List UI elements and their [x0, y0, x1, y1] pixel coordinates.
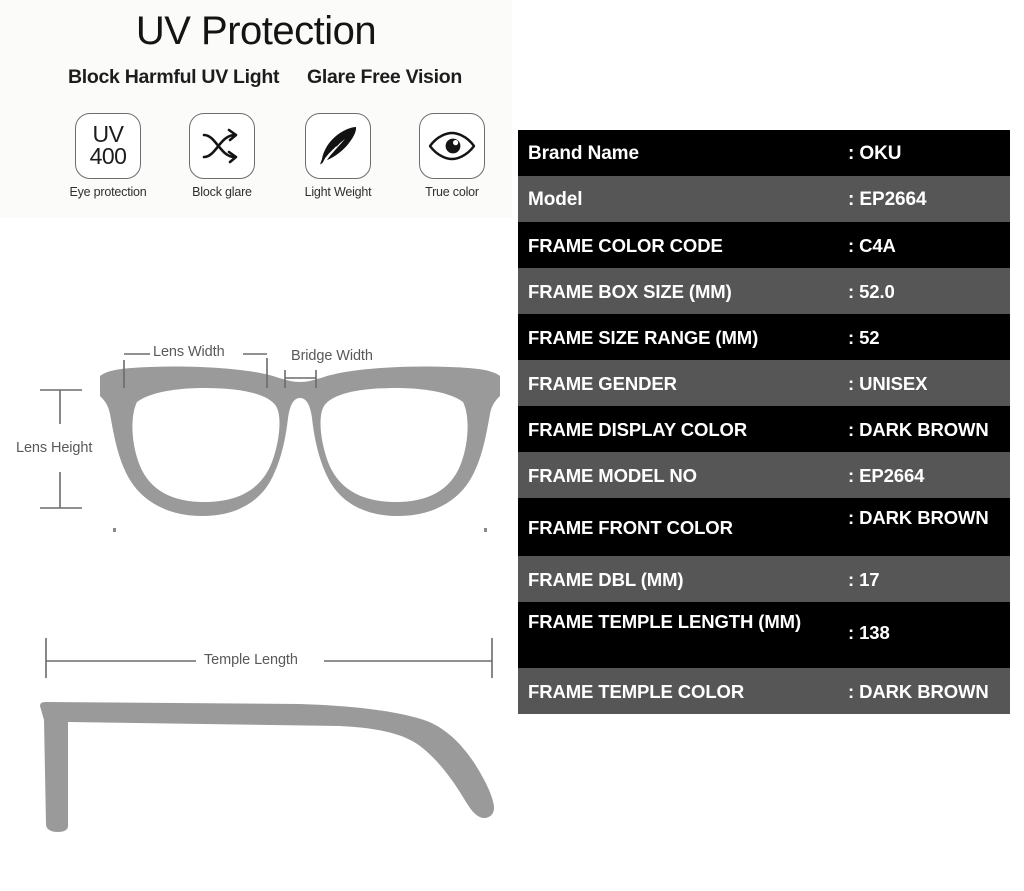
- spec-separator: :: [848, 189, 854, 210]
- bridge-width-label: Bridge Width: [291, 348, 373, 364]
- lens-height-label: Lens Height: [16, 440, 92, 456]
- spec-value-text: EP2664: [859, 189, 926, 210]
- eye-icon: [419, 113, 485, 179]
- spec-label: FRAME DISPLAY COLOR: [518, 418, 848, 441]
- spec-value: : C4A: [848, 234, 1010, 257]
- uv-protection-banner: UV Protection Block Harmful UV Light Gla…: [0, 0, 512, 218]
- spec-value-text: OKU: [859, 143, 901, 164]
- lens-width-label: Lens Width: [153, 344, 225, 360]
- spec-value-text: 138: [859, 622, 890, 643]
- feather-icon: [305, 113, 371, 179]
- table-row: FRAME DBL (MM) : 17: [518, 556, 1010, 602]
- table-row: FRAME TEMPLE LENGTH (MM) : 138: [518, 602, 1010, 668]
- shuffle-arrows-glyph: [200, 127, 244, 165]
- spec-separator: :: [848, 143, 854, 164]
- spec-label: FRAME FRONT COLOR: [518, 516, 848, 539]
- table-row: FRAME FRONT COLOR : DARK BROWN: [518, 498, 1010, 556]
- spec-label: FRAME TEMPLE LENGTH (MM): [518, 602, 848, 633]
- spec-value-text: 17: [859, 569, 879, 590]
- spec-label: FRAME GENDER: [518, 372, 848, 395]
- temple-length-label: Temple Length: [204, 652, 298, 668]
- feature-block-glare: Block glare: [170, 113, 274, 199]
- feature-caption: Eye protection: [56, 185, 160, 199]
- spec-label: FRAME DBL (MM): [518, 568, 848, 591]
- spec-separator: :: [848, 681, 854, 702]
- spec-label: FRAME TEMPLE COLOR: [518, 680, 848, 703]
- uv400-icon-bottom-text: 400: [90, 146, 127, 168]
- spec-value: : 52: [848, 326, 1010, 349]
- spec-value-text: C4A: [859, 235, 896, 256]
- spec-value-text: 52.0: [859, 281, 895, 302]
- spec-label: Model: [518, 188, 848, 211]
- shuffle-arrows-icon: [189, 113, 255, 179]
- temple-length-diagram: Temple Length: [0, 620, 512, 886]
- spec-value: : UNISEX: [848, 372, 1010, 395]
- eyeglass-frame-shape: [100, 366, 500, 516]
- spec-value: : 52.0: [848, 280, 1010, 303]
- spec-separator: :: [848, 281, 854, 302]
- spec-separator: :: [848, 465, 854, 486]
- feature-caption: Light Weight: [286, 185, 390, 199]
- feather-glyph: [315, 123, 361, 169]
- feature-eye-protection: UV 400 Eye protection: [56, 113, 160, 199]
- spec-label: FRAME SIZE RANGE (MM): [518, 326, 848, 349]
- spec-value-text: DARK BROWN: [859, 419, 989, 440]
- feature-caption: True color: [400, 185, 504, 199]
- table-row: FRAME MODEL NO : EP2664: [518, 452, 1010, 498]
- spec-value-text: 52: [859, 327, 879, 348]
- uv400-icon: UV 400: [75, 113, 141, 179]
- feature-icon-strip: UV 400 Eye protection: [56, 113, 504, 208]
- spec-label: FRAME MODEL NO: [518, 464, 848, 487]
- uv-subtitle-glare-free: Glare Free Vision: [307, 66, 462, 89]
- spec-separator: :: [848, 419, 854, 440]
- table-row: FRAME TEMPLE COLOR : DARK BROWN: [518, 668, 1010, 714]
- table-row: FRAME BOX SIZE (MM) : 52.0: [518, 268, 1010, 314]
- spec-label: Brand Name: [518, 142, 848, 165]
- frame-base-ticks: [113, 528, 487, 532]
- spec-value-text: EP2664: [859, 465, 924, 486]
- temple-arm-shape: [40, 702, 494, 832]
- frame-front-diagram: Lens Width Bridge Width Lens Height: [0, 320, 512, 580]
- table-row: Brand Name : OKU: [518, 130, 1010, 176]
- spec-separator: :: [848, 373, 854, 394]
- uv-subtitle-block-uv: Block Harmful UV Light: [68, 66, 279, 89]
- spec-value: : EP2664: [848, 188, 1010, 211]
- spec-value: : DARK BROWN: [848, 506, 1010, 529]
- spec-separator: :: [848, 235, 854, 256]
- spec-value: : OKU: [848, 142, 1010, 165]
- spec-value-text: DARK BROWN: [859, 681, 989, 702]
- left-illustration-panel: UV Protection Block Harmful UV Light Gla…: [0, 0, 512, 886]
- feature-true-color: True color: [400, 113, 504, 199]
- spec-separator: :: [848, 507, 854, 528]
- spec-value: : EP2664: [848, 464, 1010, 487]
- spec-value: : DARK BROWN: [848, 418, 1010, 441]
- table-row: Model : EP2664: [518, 176, 1010, 222]
- spec-separator: :: [848, 327, 854, 348]
- spec-value: : 17: [848, 568, 1010, 591]
- spec-value: : DARK BROWN: [848, 680, 1010, 703]
- spec-value-text: DARK BROWN: [859, 507, 989, 528]
- spec-value-text: UNISEX: [859, 373, 927, 394]
- eye-glyph: [428, 131, 476, 161]
- table-row: FRAME SIZE RANGE (MM) : 52: [518, 314, 1010, 360]
- feature-light-weight: Light Weight: [286, 113, 390, 199]
- table-row: FRAME COLOR CODE : C4A: [518, 222, 1010, 268]
- spec-label: FRAME BOX SIZE (MM): [518, 280, 848, 303]
- spec-separator: :: [848, 622, 854, 643]
- frame-specification-table: Brand Name : OKU Model : EP2664 FRAME CO…: [518, 130, 1010, 714]
- spec-label: FRAME COLOR CODE: [518, 234, 848, 257]
- feature-caption: Block glare: [170, 185, 274, 199]
- uv-protection-title: UV Protection: [0, 6, 512, 56]
- spec-value: : 138: [848, 602, 1010, 644]
- spec-separator: :: [848, 569, 854, 590]
- table-row: FRAME DISPLAY COLOR : DARK BROWN: [518, 406, 1010, 452]
- table-row: FRAME GENDER : UNISEX: [518, 360, 1010, 406]
